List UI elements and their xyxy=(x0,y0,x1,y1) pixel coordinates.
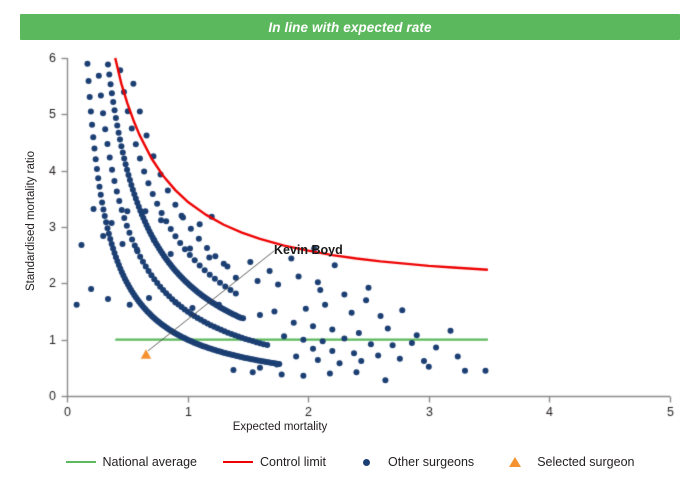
legend-label-other-surgeons: Other surgeons xyxy=(388,455,474,469)
status-banner: In line with expected rate xyxy=(20,14,680,40)
status-banner-text: In line with expected rate xyxy=(268,20,431,35)
y-axis-title: Standardised mortality ratio xyxy=(25,111,37,331)
legend-label-national-average: National average xyxy=(103,455,198,469)
legend-line-swatch-control-limit xyxy=(223,461,253,463)
funnel-plot-canvas[interactable] xyxy=(0,44,700,444)
funnel-plot-page: In line with expected rate Standardised … xyxy=(0,0,700,500)
legend-item-control-limit[interactable]: Control limit xyxy=(223,455,326,469)
x-axis-title: Expected mortality xyxy=(0,421,560,433)
legend-item-other-surgeons[interactable]: Other surgeons xyxy=(352,455,474,469)
legend-item-national-average[interactable]: National average xyxy=(66,455,198,469)
legend-item-selected-surgeon[interactable]: Selected surgeon xyxy=(500,455,634,469)
legend-dot-swatch-other-surgeons xyxy=(363,459,370,466)
annotation-kevin-boyd: Kevin Boyd xyxy=(274,243,343,257)
legend-line-swatch-national-average xyxy=(66,461,96,463)
legend-label-control-limit: Control limit xyxy=(260,455,326,469)
legend-triangle-swatch-selected-surgeon xyxy=(509,457,521,467)
legend-label-selected-surgeon: Selected surgeon xyxy=(537,455,634,469)
chart-legend: National average Control limit Other sur… xyxy=(0,455,700,469)
